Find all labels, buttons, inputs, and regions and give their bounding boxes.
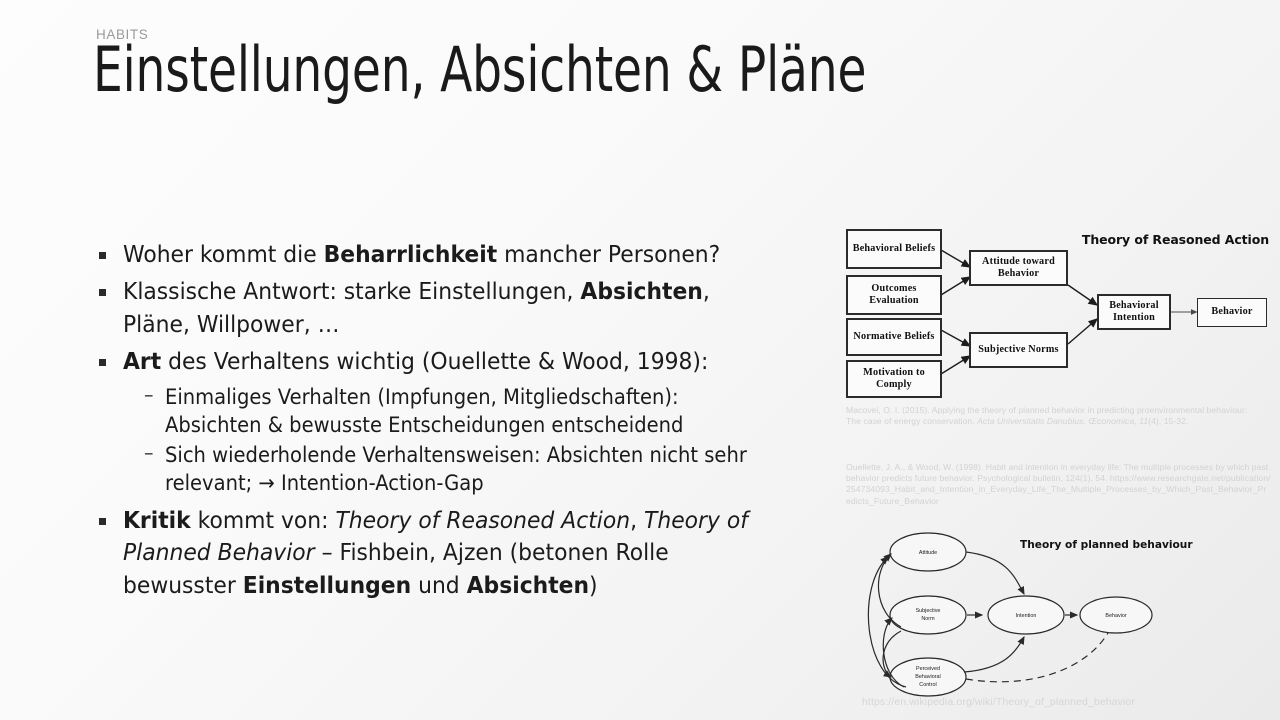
tra-node-behavioral-intention: Behavioral Intention — [1097, 294, 1171, 330]
text-segment: Theory of Reasoned Action — [335, 506, 630, 534]
theory-of-planned-behaviour-diagram: Theory of planned behaviour — [846, 527, 1271, 702]
tpb-node-subjective-norm-label-2: Norm — [921, 616, 935, 622]
tra-node-behavioral-beliefs: Behavioral Beliefs — [846, 229, 942, 269]
slide-canvas: HABITS Einstellungen, Absichten & Pläne … — [0, 0, 1280, 720]
text-segment: kommt von: — [191, 506, 336, 534]
bullet-item: Woher kommt die Beharrlichkeit mancher P… — [99, 238, 815, 270]
citation-macovei-volume: 11 — [1139, 416, 1148, 426]
sub-bullet-list: –Einmaliges Verhalten (Impfungen, Mitgli… — [99, 383, 815, 498]
tpb-graph-svg: Attitude Subjective Norm Perceived Behav… — [846, 527, 1186, 699]
text-segment: des Verhaltens wichtig (Ouellette & Wood… — [161, 347, 708, 375]
bullet-dash-icon: – — [144, 383, 165, 409]
bullet-dash-icon: – — [144, 441, 165, 467]
text-segment: ) — [589, 571, 598, 599]
text-segment: , — [630, 506, 644, 534]
bullet-text: Woher kommt die Beharrlichkeit mancher P… — [123, 238, 767, 270]
bullet-text: Klassische Antwort: starke Einstellungen… — [123, 275, 767, 340]
tpb-node-attitude-label: Attitude — [919, 550, 937, 556]
text-segment: Woher kommt die — [123, 240, 324, 268]
sub-bullet-item: –Sich wiederholende Verhaltensweisen: Ab… — [99, 441, 815, 498]
tpb-node-perceived-control-label-3: Control — [919, 682, 936, 688]
citation-macovei: Macovei, O. I. (2015). Applying the theo… — [846, 405, 1250, 427]
tpb-node-subjective-norm-label-1: Subjective — [916, 608, 941, 614]
bullet-text: Kritik kommt von: Theory of Reasoned Act… — [123, 504, 767, 601]
tra-node-attitude-toward-behavior: Attitude toward Behavior — [969, 250, 1068, 286]
bullet-square-icon — [99, 238, 123, 265]
tpb-node-intention-label: Intention — [1016, 613, 1037, 619]
sub-bullet-item: –Einmaliges Verhalten (Impfungen, Mitgli… — [99, 383, 815, 440]
citation-ouellette: Ouellette, J. A., & Wood, W. (1998). Hab… — [846, 462, 1271, 507]
text-segment: und — [411, 571, 466, 599]
tra-node-outcomes-evaluation: Outcomes Evaluation — [846, 275, 942, 315]
text-segment: Sich wiederholende Verhaltensweisen: Abs… — [165, 443, 747, 496]
text-segment: Kritik — [123, 506, 191, 534]
bullet-item: Art des Verhaltens wichtig (Ouellette & … — [99, 345, 815, 377]
tpb-node-perceived-control-label-2: Behavioral — [915, 674, 940, 680]
bullet-square-icon — [99, 504, 123, 531]
tra-node-subjective-norms: Subjective Norms — [969, 332, 1068, 368]
bullet-square-icon — [99, 345, 123, 372]
tra-node-motivation-to-comply: Motivation to Comply — [846, 360, 942, 398]
tpb-node-perceived-control-label-1: Perceived — [916, 666, 940, 672]
text-segment: Art — [123, 347, 161, 375]
bullet-list: Woher kommt die Beharrlichkeit mancher P… — [99, 238, 815, 606]
theory-of-reasoned-action-diagram: Theory of Reasoned Action — [840, 222, 1272, 402]
tpb-node-behavior-label: Behavior — [1105, 613, 1126, 619]
citation-macovei-journal: Acta Universitatis Danubius. Œconomica — [977, 416, 1134, 426]
text-segment: Klassische Antwort: starke Einstellungen… — [123, 277, 580, 305]
text-segment: Absichten — [467, 571, 589, 599]
right-column: Theory of Reasoned Action — [840, 222, 1272, 402]
sub-bullet-text: Einmaliges Verhalten (Impfungen, Mitglie… — [165, 383, 770, 440]
text-segment: Absichten — [580, 277, 702, 305]
text-segment: mancher Personen? — [497, 240, 720, 268]
bullet-text: Art des Verhaltens wichtig (Ouellette & … — [123, 345, 767, 377]
text-segment: Einmaliges Verhalten (Impfungen, Mitglie… — [165, 385, 683, 438]
page-title: Einstellungen, Absichten & Pläne — [93, 38, 866, 101]
tra-node-behavior: Behavior — [1197, 298, 1267, 327]
text-segment: Einstellungen — [243, 571, 411, 599]
text-segment: Beharrlichkeit — [324, 240, 498, 268]
bullet-item: Klassische Antwort: starke Einstellungen… — [99, 275, 815, 340]
bullet-square-icon — [99, 275, 123, 302]
citation-macovei-pages: (4), 15-32. — [1148, 416, 1188, 426]
tra-node-normative-beliefs: Normative Beliefs — [846, 318, 942, 356]
tpb-source-url[interactable]: https://en.wikipedia.org/wiki/Theory_of_… — [862, 697, 1135, 708]
bullet-item: Kritik kommt von: Theory of Reasoned Act… — [99, 504, 815, 601]
sub-bullet-text: Sich wiederholende Verhaltensweisen: Abs… — [165, 441, 770, 498]
